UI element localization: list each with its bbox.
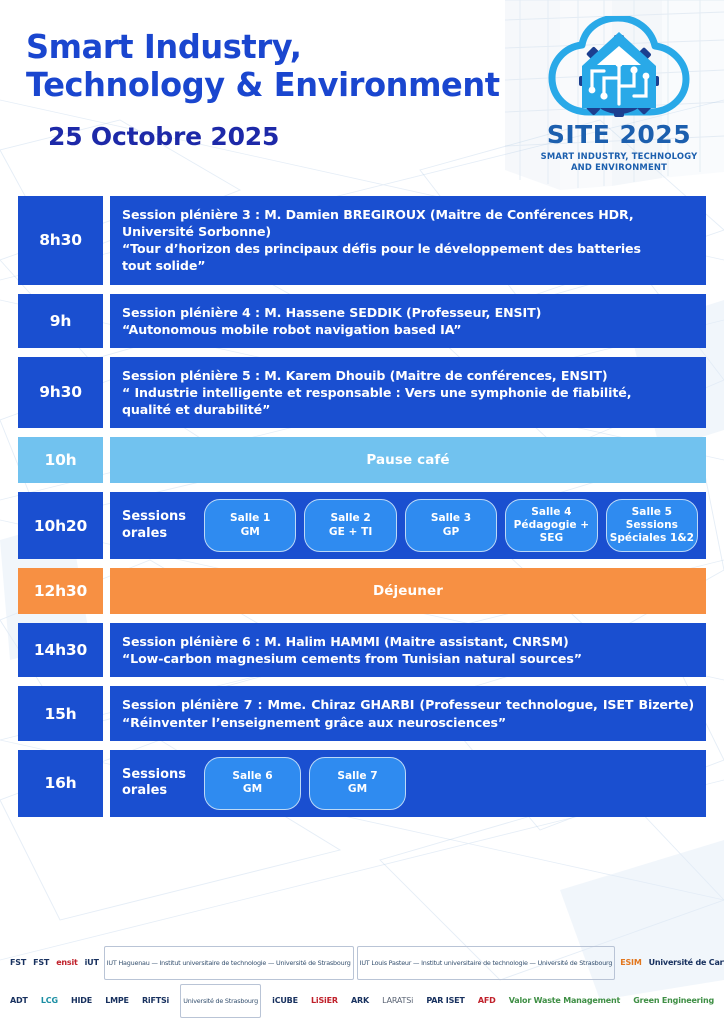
session-detail-cell: Session plénière 5 : M. Karem Dhouib (Ma… [110, 357, 706, 428]
logo-subtitle: SMART INDUSTRY, TECHNOLOGY AND ENVIRONME… [524, 151, 714, 173]
room-card-line: SEG [540, 532, 564, 545]
sponsor-logo: LCG [39, 984, 60, 1018]
room-card[interactable]: Salle 6GM [204, 757, 301, 810]
program-poster: Smart Industry, Technology & Environment… [0, 0, 724, 1024]
sponsor-logo: ensit [54, 946, 79, 980]
room-card-line: GP [443, 526, 459, 539]
room-card-line: Salle 5 [632, 506, 672, 519]
sponsor-logo: ESIM [618, 946, 643, 980]
room-card-line: Salle 7 [337, 770, 377, 783]
schedule-row: 16hSessionsoralesSalle 6GMSalle 7GM [18, 750, 706, 817]
poster-header: Smart Industry, Technology & Environment… [0, 0, 724, 196]
room-card[interactable]: Salle 5SessionsSpéciales 1&2 [606, 499, 698, 552]
sponsor-logo: PAR ISET [424, 984, 466, 1018]
sponsor-logo: iUT [83, 946, 101, 980]
schedule-row: 10hPause café [18, 437, 706, 483]
session-detail-cell: Session plénière 4 : M. Hassene SEDDIK (… [110, 294, 706, 348]
time-cell: 16h [18, 750, 103, 817]
oral-sessions-cell: SessionsoralesSalle 6GMSalle 7GM [110, 750, 706, 817]
time-cell: 12h30 [18, 568, 103, 614]
cloud-house-circuit-icon [544, 16, 694, 124]
oral-sessions-label: Sessionsorales [122, 767, 196, 800]
room-card-line: GM [241, 526, 260, 539]
break-banner-cell: Déjeuner [110, 568, 706, 614]
sponsor-logo: iCUBE [270, 984, 300, 1018]
session-text: Session plénière 3 : M. Damien BREGIROUX… [122, 206, 641, 275]
session-text-line: “ Industrie intelligente et responsable … [122, 384, 631, 401]
session-text-line: Session plénière 5 : M. Karem Dhouib (Ma… [122, 367, 631, 384]
sponsor-logo: IUT Haguenau — Institut universitaire de… [104, 946, 354, 980]
sponsor-logo: Valor Waste Management [507, 984, 622, 1018]
room-card[interactable]: Salle 7GM [309, 757, 406, 810]
session-text: Session plénière 4 : M. Hassene SEDDIK (… [122, 304, 541, 338]
room-card-line: Salle 3 [431, 512, 471, 525]
room-card-line: Salle 4 [531, 506, 571, 519]
session-detail-cell: Session plénière 7 : Mme. Chiraz GHARBI … [110, 686, 706, 740]
time-cell: 9h30 [18, 357, 103, 428]
sponsor-logo: Université de Carthage [647, 946, 724, 980]
break-banner-cell: Pause café [110, 437, 706, 483]
room-card-list: Salle 6GMSalle 7GM [204, 757, 406, 810]
sponsor-strip-2: ADTLCGHIDELMPERiFTSiUniversité de Strasb… [6, 982, 718, 1020]
logo-subtitle-line-1: SMART INDUSTRY, TECHNOLOGY [541, 151, 698, 161]
schedule-row: 9hSession plénière 4 : M. Hassene SEDDIK… [18, 294, 706, 348]
schedule-row: 8h30Session plénière 3 : M. Damien BREGI… [18, 196, 706, 285]
room-card[interactable]: Salle 3GP [405, 499, 497, 552]
sponsor-logos: FSTFSTensitiUTIUT Haguenau — Institut un… [0, 944, 724, 1024]
session-text-line: “Tour d’horizon des principaux défis pou… [122, 240, 641, 257]
time-cell: 15h [18, 686, 103, 740]
sponsor-logo: ADT [8, 984, 30, 1018]
break-label: Pause café [122, 452, 694, 468]
room-card-line: Pédagogie + [514, 519, 590, 532]
room-card-line: GM [348, 783, 367, 796]
schedule-row: 9h30Session plénière 5 : M. Karem Dhouib… [18, 357, 706, 428]
schedule-table: 8h30Session plénière 3 : M. Damien BREGI… [0, 196, 724, 817]
sponsor-logo: LMPE [103, 984, 131, 1018]
session-text-line: Université Sorbonne) [122, 223, 641, 240]
title-line-1: Smart Industry, [26, 27, 302, 66]
time-cell: 8h30 [18, 196, 103, 285]
session-text-line: “Low-carbon magnesium cements from Tunis… [122, 650, 582, 667]
room-card-line: GE + TI [329, 526, 372, 539]
title-line-2: Technology & Environment [26, 65, 500, 104]
session-text-line: Session plénière 4 : M. Hassene SEDDIK (… [122, 304, 541, 321]
session-text-line: qualité et durabilité” [122, 401, 631, 418]
sponsor-logo: Université de Strasbourg [180, 984, 261, 1018]
room-card[interactable]: Salle 4Pédagogie +SEG [505, 499, 597, 552]
oral-sessions-label: Sessionsorales [122, 509, 196, 542]
room-card-line: Spéciales 1&2 [610, 532, 694, 545]
sponsor-logo: HIDE [69, 984, 94, 1018]
site-logo: SITE 2025 SMART INDUSTRY, TECHNOLOGY AND… [524, 16, 714, 173]
session-text-line: Session plénière 3 : M. Damien BREGIROUX… [122, 206, 641, 223]
room-card-line: Salle 6 [232, 770, 272, 783]
sponsor-logo: IUT Louis Pasteur — Institut universitai… [357, 946, 616, 980]
room-card-line: GM [243, 783, 262, 796]
schedule-row: 10h20SessionsoralesSalle 1GMSalle 2GE + … [18, 492, 706, 559]
sponsor-logo: LiSiER [309, 984, 340, 1018]
session-text-line: tout solide” [122, 257, 641, 274]
oral-sessions-cell: SessionsoralesSalle 1GMSalle 2GE + TISal… [110, 492, 706, 559]
time-cell: 10h20 [18, 492, 103, 559]
room-card-list: Salle 1GMSalle 2GE + TISalle 3GPSalle 4P… [204, 499, 698, 552]
oral-sessions-label-line-2: orales [122, 783, 167, 798]
session-text: Session plénière 7 : Mme. Chiraz GHARBI … [122, 696, 694, 730]
sponsor-logo: ARK [349, 984, 371, 1018]
room-card[interactable]: Salle 1GM [204, 499, 296, 552]
sponsor-logo: AFD [476, 984, 498, 1018]
session-text-line: “Autonomous mobile robot navigation base… [122, 321, 541, 338]
session-text-line: Session plénière 6 : M. Halim HAMMI (Mai… [122, 633, 582, 650]
sponsor-logo: FST [8, 946, 28, 980]
sponsor-logo: LARATSi [380, 984, 415, 1018]
schedule-row: 12h30Déjeuner [18, 568, 706, 614]
sponsor-logo: FST [31, 946, 51, 980]
time-cell: 10h [18, 437, 103, 483]
sponsor-strip-1: FSTFSTensitiUTIUT Haguenau — Institut un… [6, 944, 718, 982]
break-label: Déjeuner [122, 583, 694, 599]
schedule-row: 14h30Session plénière 6 : M. Halim HAMMI… [18, 623, 706, 677]
schedule-row: 15hSession plénière 7 : Mme. Chiraz GHAR… [18, 686, 706, 740]
session-text: Session plénière 5 : M. Karem Dhouib (Ma… [122, 367, 631, 418]
session-detail-cell: Session plénière 3 : M. Damien BREGIROUX… [110, 196, 706, 285]
session-text: Session plénière 6 : M. Halim HAMMI (Mai… [122, 633, 582, 667]
logo-subtitle-line-2: AND ENVIRONMENT [571, 162, 667, 172]
room-card-line: Sessions [626, 519, 678, 532]
page-title: Smart Industry, Technology & Environment [26, 28, 530, 105]
logo-title: SITE 2025 [524, 120, 714, 149]
time-cell: 9h [18, 294, 103, 348]
sponsor-logo: Green Engineering [631, 984, 716, 1018]
oral-sessions-label-line-2: orales [122, 526, 167, 541]
room-card-line: Salle 2 [330, 512, 370, 525]
time-cell: 14h30 [18, 623, 103, 677]
session-detail-cell: Session plénière 6 : M. Halim HAMMI (Mai… [110, 623, 706, 677]
room-card[interactable]: Salle 2GE + TI [304, 499, 396, 552]
room-card-line: Salle 1 [230, 512, 270, 525]
oral-sessions-label-line-1: Sessions [122, 767, 186, 782]
oral-sessions-label-line-1: Sessions [122, 509, 186, 524]
sponsor-logo: RiFTSi [140, 984, 171, 1018]
